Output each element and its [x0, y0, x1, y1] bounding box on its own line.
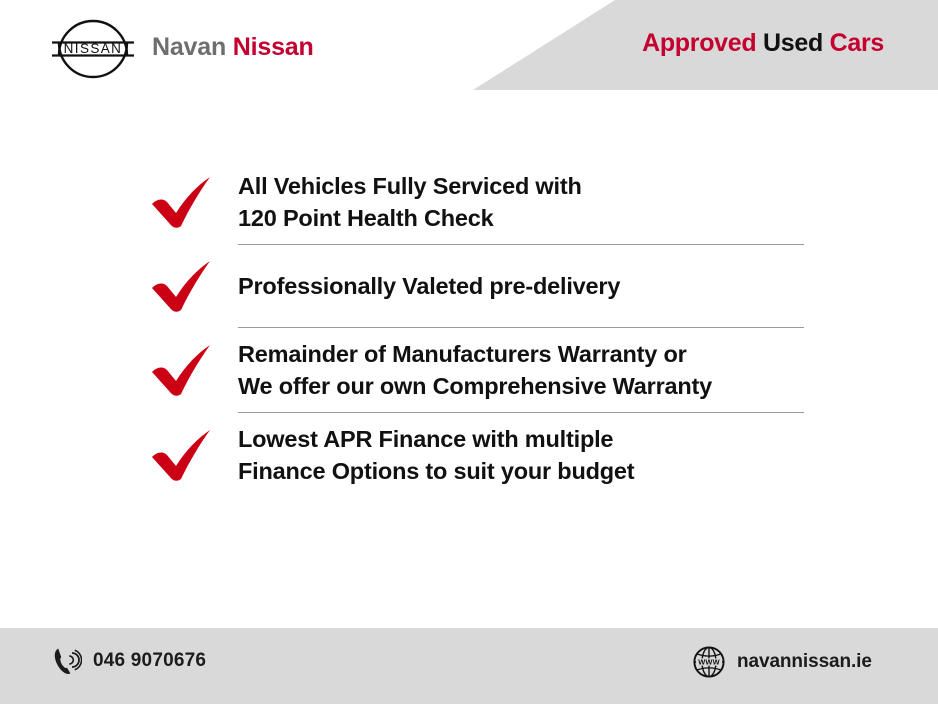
list-item-label: Lowest APR Finance with multiple Finance…	[238, 423, 634, 487]
dealer-name: Navan Nissan	[152, 35, 314, 63]
title-word-cars: Cars	[830, 29, 884, 57]
page-footer: 046 9070676 WWW navannissan.ie	[0, 628, 938, 704]
red-checkmark-icon	[148, 339, 220, 401]
svg-text:NISSAN: NISSAN	[64, 41, 123, 56]
list-item-label: All Vehicles Fully Serviced with 120 Poi…	[238, 170, 582, 234]
list-item: All Vehicles Fully Serviced with 120 Poi…	[0, 170, 938, 234]
red-checkmark-icon	[148, 171, 220, 233]
page-header: NISSAN Navan Nissan Approved Used Cars	[0, 0, 938, 92]
website-label: navannissan.ie	[737, 651, 872, 673]
globe-www-icon: WWW	[692, 645, 726, 679]
list-item-label: Professionally Valeted pre-delivery	[238, 270, 620, 302]
list-item: Lowest APR Finance with multiple Finance…	[0, 423, 938, 487]
benefits-list: All Vehicles Fully Serviced with 120 Poi…	[0, 170, 938, 487]
brand-lockup: NISSAN Navan Nissan	[48, 11, 314, 87]
list-divider	[238, 244, 804, 245]
title-word-used: Used	[763, 29, 823, 57]
list-item: Professionally Valeted pre-delivery	[0, 255, 938, 317]
phone-number-label: 046 9070676	[93, 650, 206, 672]
dealer-name-navan: Navan	[152, 33, 226, 61]
red-checkmark-icon	[148, 424, 220, 486]
footer-website-block[interactable]: WWW navannissan.ie	[692, 645, 872, 679]
red-checkmark-icon	[148, 255, 220, 317]
globe-www-label: WWW	[698, 658, 720, 667]
nissan-logo-icon: NISSAN	[48, 11, 138, 87]
footer-phone-block[interactable]: 046 9070676	[52, 645, 206, 677]
title-word-approved: Approved	[642, 29, 756, 57]
approved-used-cars-title: Approved Used Cars	[642, 31, 884, 56]
list-item-label: Remainder of Manufacturers Warranty or W…	[238, 338, 712, 402]
list-divider	[238, 327, 804, 328]
list-divider	[238, 412, 804, 413]
phone-ringing-icon	[52, 645, 82, 677]
dealer-name-nissan: Nissan	[233, 33, 314, 61]
list-item: Remainder of Manufacturers Warranty or W…	[0, 338, 938, 402]
